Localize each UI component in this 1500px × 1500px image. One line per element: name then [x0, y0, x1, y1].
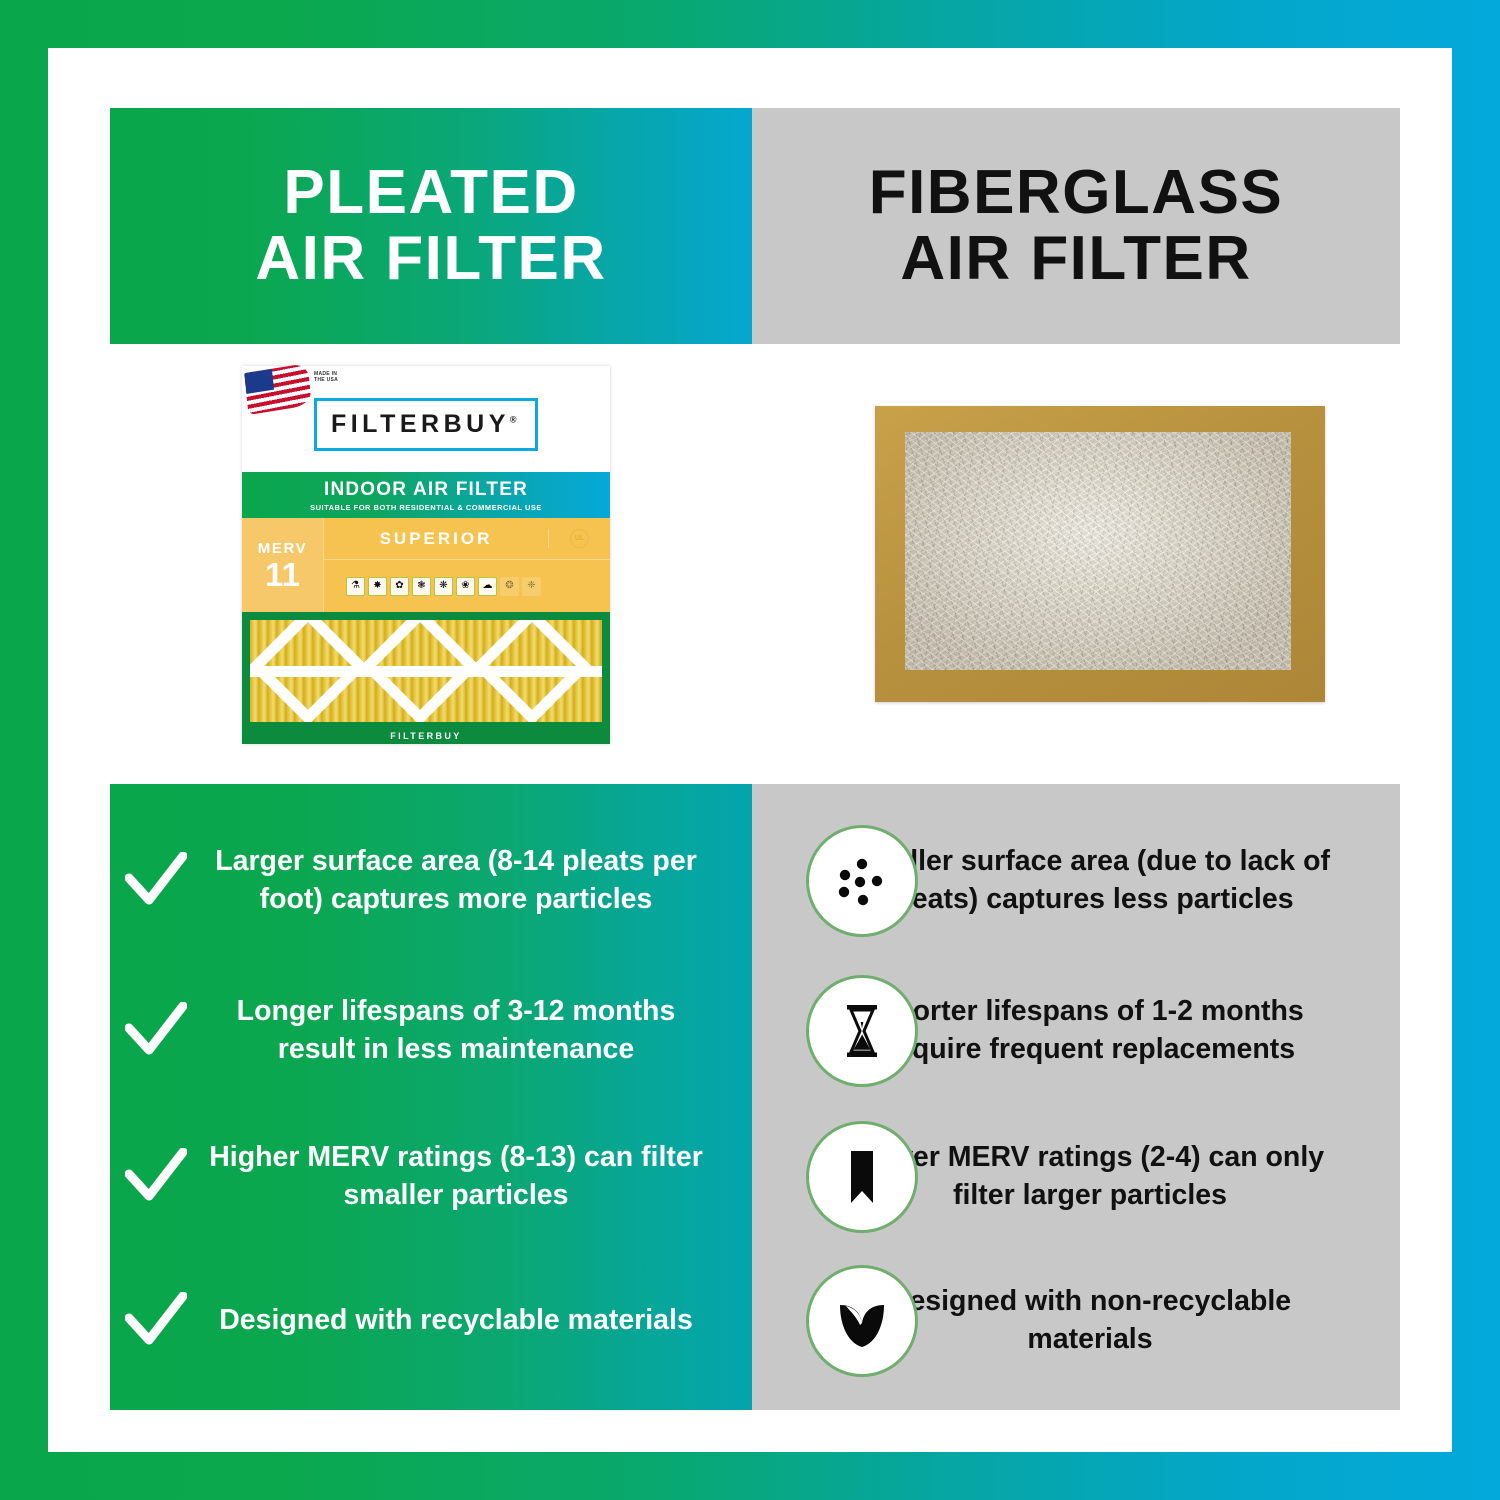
bacteria-icon: ❋	[434, 577, 453, 596]
smoke-icon: ☁	[478, 577, 497, 596]
indoor-air-filter-band: INDOOR AIR FILTER SUITABLE FOR BOTH RESI…	[242, 472, 610, 518]
filter-label-top: MADE IN THE USA FILTERBUY®	[242, 366, 610, 472]
leaf-icon	[806, 1265, 918, 1377]
header-pleated-title: PLEATED AIR FILTER	[255, 160, 606, 293]
filter-footer-brand: FILTERBUY	[242, 731, 610, 741]
ul-mark-cell: UL	[548, 529, 610, 548]
filterbuy-brand: FILTERBUY	[331, 410, 510, 438]
tier-row: SUPERIOR UL	[324, 518, 610, 560]
tier-name: SUPERIOR	[324, 529, 548, 549]
mold-spore-icon: ❃	[412, 577, 431, 596]
header-pleated: PLEATED AIR FILTER	[110, 108, 752, 344]
usa-flag-icon	[244, 363, 312, 415]
header-fiberglass: FIBERGLASS AIR FILTER	[752, 108, 1400, 344]
bookmark-icon	[806, 1121, 918, 1233]
comparison-rows: Larger surface area (8-14 pleats per foo…	[110, 784, 1400, 1410]
merv-area: MERV 11 SUPERIOR UL ⚗ ✸ ✿	[242, 518, 610, 612]
mesh-diamond	[250, 620, 367, 722]
comparison-row: Longer lifespans of 3-12 months result i…	[110, 956, 1400, 1106]
header-pleated-line2: AIR FILTER	[255, 226, 606, 292]
merv-value: 11	[265, 558, 300, 591]
capability-icon-row: ⚗ ✸ ✿ ❃ ❋ ❀ ☁ ❂ ❈	[324, 560, 610, 612]
hourglass-icon	[806, 975, 918, 1087]
comparison-row: Larger surface area (8-14 pleats per foo…	[110, 798, 1400, 964]
header-pleated-line1: PLEATED	[255, 160, 606, 226]
header-fiberglass-line1: FIBERGLASS	[869, 160, 1284, 226]
support-mesh	[250, 620, 602, 722]
pleated-filter-image: MADE IN THE USA FILTERBUY® INDOOR AIR FI…	[242, 366, 610, 744]
insect-icon: ✸	[368, 577, 387, 596]
checkmark-icon	[110, 1148, 202, 1206]
fiberglass-media-texture	[905, 432, 1291, 670]
merv-label: MERV	[258, 540, 307, 557]
checkmark-icon	[110, 1292, 202, 1350]
checkmark-icon	[110, 852, 202, 910]
pet-dander-icon: ❀	[456, 577, 475, 596]
row2-left-cell: Longer lifespans of 3-12 months result i…	[110, 993, 752, 1069]
row4-left-text: Designed with recyclable materials	[202, 1302, 710, 1340]
product-cell-pleated: MADE IN THE USA FILTERBUY® INDOOR AIR FI…	[110, 344, 755, 784]
fiberglass-filter-image	[875, 406, 1325, 702]
particles-icon	[806, 825, 918, 937]
row3-left-cell: Higher MERV ratings (8-13) can filter sm…	[110, 1139, 752, 1215]
header-fiberglass-title: FIBERGLASS AIR FILTER	[869, 160, 1284, 293]
registered-mark: ®	[510, 414, 521, 424]
mesh-diamond	[473, 620, 592, 722]
row1-left-text: Larger surface area (8-14 pleats per foo…	[202, 843, 710, 919]
filterbuy-logo-text: FILTERBUY®	[331, 410, 521, 439]
row4-left-cell: Designed with recyclable materials	[110, 1292, 752, 1350]
merv-right-panel: SUPERIOR UL ⚗ ✸ ✿ ❃ ❋ ❀ ☁	[324, 518, 610, 612]
mesh-diamond	[361, 620, 480, 722]
odor-icon: ❈	[522, 577, 541, 596]
row1-left-cell: Larger surface area (8-14 pleats per foo…	[110, 843, 752, 919]
row2-left-text: Longer lifespans of 3-12 months result i…	[202, 993, 710, 1069]
header-band: PLEATED AIR FILTER FIBERGLASS AIR FILTER	[110, 108, 1400, 344]
virus-icon: ❂	[500, 577, 519, 596]
product-image-row: MADE IN THE USA FILTERBUY® INDOOR AIR FI…	[110, 344, 1400, 784]
product-cell-fiberglass	[755, 344, 1400, 784]
pollen-icon: ✿	[390, 577, 409, 596]
infographic-content: PLEATED AIR FILTER FIBERGLASS AIR FILTER…	[110, 108, 1400, 1410]
header-fiberglass-line2: AIR FILTER	[869, 226, 1284, 292]
comparison-row: Higher MERV ratings (8-13) can filter sm…	[110, 1102, 1400, 1252]
made-in-usa-text: MADE IN THE USA	[314, 371, 338, 384]
filterbuy-logo: FILTERBUY®	[314, 398, 538, 451]
merv-badge: MERV 11	[242, 518, 324, 612]
band-main-text: INDOOR AIR FILTER	[324, 479, 528, 501]
made-in-line2: THE USA	[314, 377, 338, 383]
checkmark-icon	[110, 1002, 202, 1060]
ul-certification-icon: UL	[570, 529, 589, 548]
pleat-media-area: FILTERBUY	[242, 612, 610, 744]
dust-icon: ⚗	[346, 577, 365, 596]
band-sub-text: SUITABLE FOR BOTH RESIDENTIAL & COMMERCI…	[310, 503, 542, 512]
comparison-row: Designed with recyclable materials Desig…	[110, 1246, 1400, 1396]
row3-left-text: Higher MERV ratings (8-13) can filter sm…	[202, 1139, 710, 1215]
